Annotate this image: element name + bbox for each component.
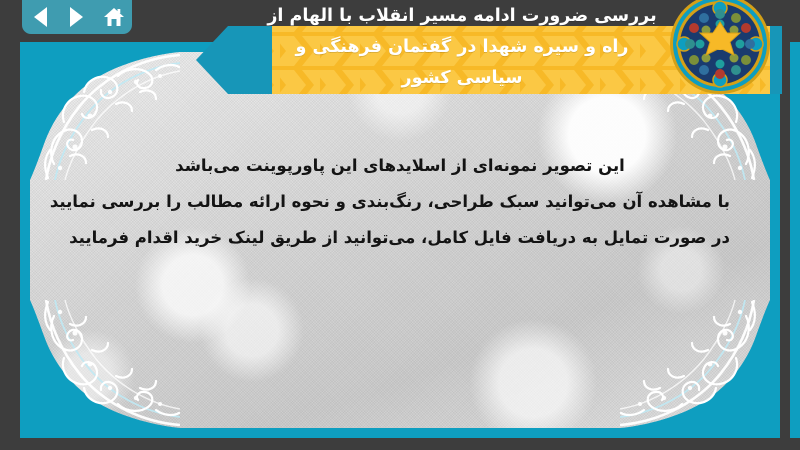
arabesque-corner-icon: [30, 300, 180, 428]
title-line-1: بررسی ضرورت ادامه مسیر انقلاب با الهام ا…: [242, 1, 682, 32]
content-background: این تصویر نمونه‌ای از اسلایدهای این پاور…: [30, 52, 770, 428]
content-frame: این تصویر نمونه‌ای از اسلایدهای این پاور…: [20, 42, 780, 438]
body-line-3: در صورت تمایل به دریافت فایل کامل، می‌تو…: [70, 220, 730, 256]
prev-slide-button[interactable]: [27, 5, 53, 29]
persian-medallion-icon: [668, 0, 772, 96]
slide-canvas: این تصویر نمونه‌ای از اسلایدهای این پاور…: [0, 0, 800, 450]
triangle-left-icon: [34, 7, 47, 27]
next-slide-button[interactable]: [64, 5, 90, 29]
slide-body-text: این تصویر نمونه‌ای از اسلایدهای این پاور…: [70, 148, 730, 256]
home-button[interactable]: [101, 5, 127, 29]
arabesque-corner-icon: [620, 300, 770, 428]
triangle-right-icon: [70, 7, 83, 27]
navigation-bar: [22, 0, 132, 34]
home-icon: [103, 7, 125, 27]
body-line-1: این تصویر نمونه‌ای از اسلایدهای این پاور…: [70, 148, 730, 184]
body-line-2: با مشاهده آن می‌توانید سبک طراحی، رنگ‌بن…: [70, 184, 730, 220]
right-edge-strip: [790, 42, 800, 438]
